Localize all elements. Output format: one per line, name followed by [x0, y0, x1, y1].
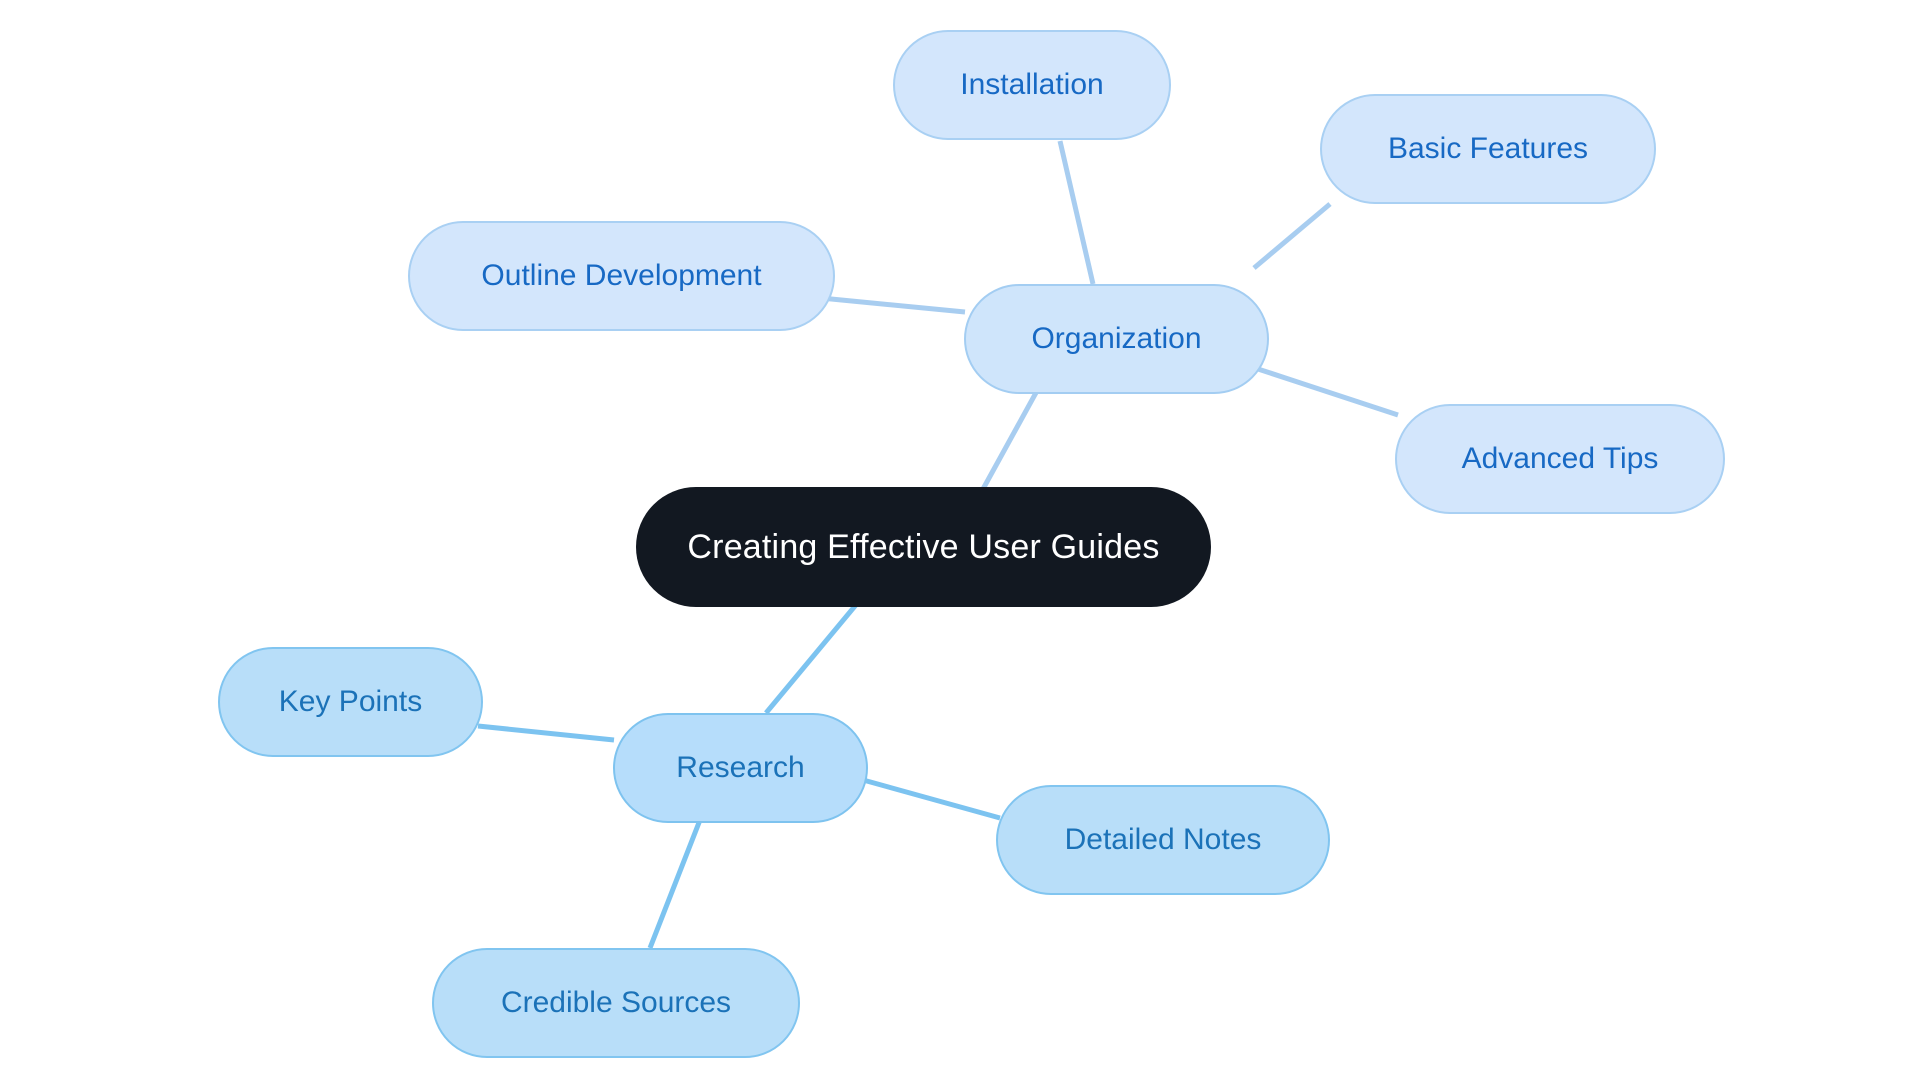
leaf-node-credible-sources-label: Credible Sources	[501, 988, 731, 1018]
leaf-node-basic-features-label: Basic Features	[1388, 134, 1588, 164]
branch-node-organization-label: Organization	[1031, 324, 1201, 354]
branch-node-organization[interactable]: Organization	[964, 284, 1269, 394]
leaf-node-advanced-tips-label: Advanced Tips	[1462, 444, 1659, 474]
edge-organization-outline-development	[821, 298, 965, 312]
leaf-node-outline-development[interactable]: Outline Development	[408, 221, 835, 331]
leaf-node-detailed-notes-label: Detailed Notes	[1065, 825, 1262, 855]
branch-node-research[interactable]: Research	[613, 713, 868, 823]
edge-research-credible-sources	[650, 820, 700, 948]
leaf-node-key-points-label: Key Points	[279, 687, 422, 717]
edge-root-research	[766, 600, 860, 713]
root-node-creating-effective-user-guides[interactable]: Creating Effective User Guides	[636, 487, 1211, 607]
leaf-node-basic-features[interactable]: Basic Features	[1320, 94, 1656, 204]
edge-organization-advanced-tips	[1258, 369, 1398, 415]
leaf-node-outline-development-label: Outline Development	[481, 261, 761, 291]
mindmap-canvas: Creating Effective User Guides Organizat…	[0, 0, 1920, 1083]
leaf-node-credible-sources[interactable]: Credible Sources	[432, 948, 800, 1058]
leaf-node-key-points[interactable]: Key Points	[218, 647, 483, 757]
leaf-node-installation-label: Installation	[960, 70, 1103, 100]
edge-organization-installation	[1060, 141, 1093, 284]
root-node-label: Creating Effective User Guides	[687, 530, 1159, 564]
edge-research-detailed-notes	[856, 778, 1000, 818]
edge-organization-basic-features	[1254, 204, 1330, 268]
leaf-node-detailed-notes[interactable]: Detailed Notes	[996, 785, 1330, 895]
leaf-node-installation[interactable]: Installation	[893, 30, 1171, 140]
leaf-node-advanced-tips[interactable]: Advanced Tips	[1395, 404, 1725, 514]
edge-research-key-points	[478, 726, 614, 740]
branch-node-research-label: Research	[676, 753, 804, 783]
